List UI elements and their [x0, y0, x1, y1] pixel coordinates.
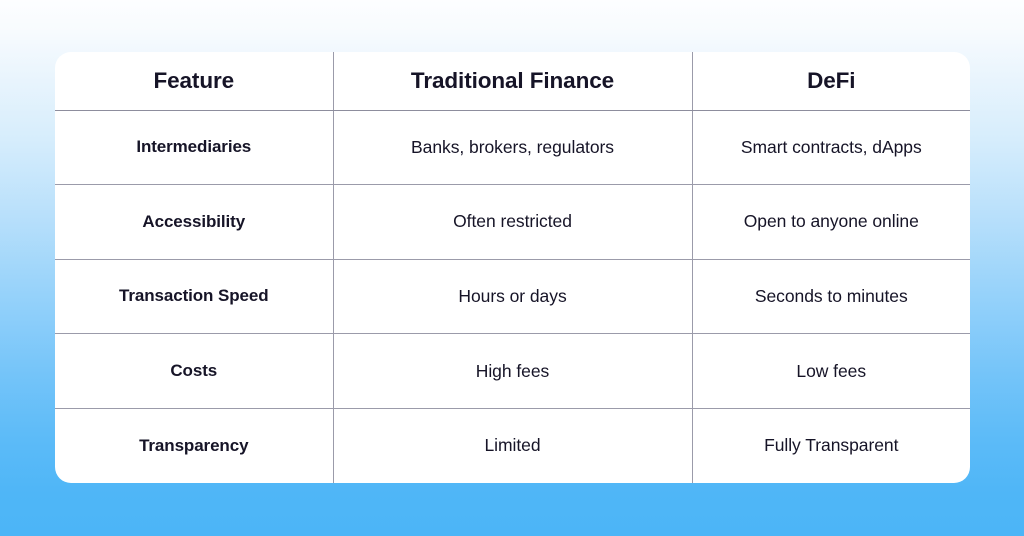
cell-transparency-defi: Fully Transparent [692, 408, 970, 483]
row-label-transaction-speed: Transaction Speed [55, 259, 333, 334]
table-row: Costs High fees Low fees [55, 334, 970, 409]
table-row: Intermediaries Banks, brokers, regulator… [55, 110, 970, 185]
comparison-table-card: Feature Traditional Finance DeFi Interme… [55, 52, 970, 483]
table-row: Transaction Speed Hours or days Seconds … [55, 259, 970, 334]
table-body: Intermediaries Banks, brokers, regulator… [55, 110, 970, 483]
row-label-transparency: Transparency [55, 408, 333, 483]
cell-accessibility-defi: Open to anyone online [692, 185, 970, 260]
cell-transparency-traditional-finance: Limited [333, 408, 692, 483]
table-header-row: Feature Traditional Finance DeFi [55, 52, 970, 110]
cell-accessibility-traditional-finance: Often restricted [333, 185, 692, 260]
cell-costs-traditional-finance: High fees [333, 334, 692, 409]
row-label-accessibility: Accessibility [55, 185, 333, 260]
cell-intermediaries-defi: Smart contracts, dApps [692, 110, 970, 185]
table-header: Feature Traditional Finance DeFi [55, 52, 970, 110]
row-label-intermediaries: Intermediaries [55, 110, 333, 185]
cell-transaction-speed-traditional-finance: Hours or days [333, 259, 692, 334]
column-header-feature: Feature [55, 52, 333, 110]
comparison-table: Feature Traditional Finance DeFi Interme… [55, 52, 970, 483]
row-label-costs: Costs [55, 334, 333, 409]
column-header-traditional-finance: Traditional Finance [333, 52, 692, 110]
cell-costs-defi: Low fees [692, 334, 970, 409]
page-canvas: Feature Traditional Finance DeFi Interme… [0, 0, 1024, 536]
table-row: Accessibility Often restricted Open to a… [55, 185, 970, 260]
column-header-defi: DeFi [692, 52, 970, 110]
cell-transaction-speed-defi: Seconds to minutes [692, 259, 970, 334]
table-row: Transparency Limited Fully Transparent [55, 408, 970, 483]
cell-intermediaries-traditional-finance: Banks, brokers, regulators [333, 110, 692, 185]
